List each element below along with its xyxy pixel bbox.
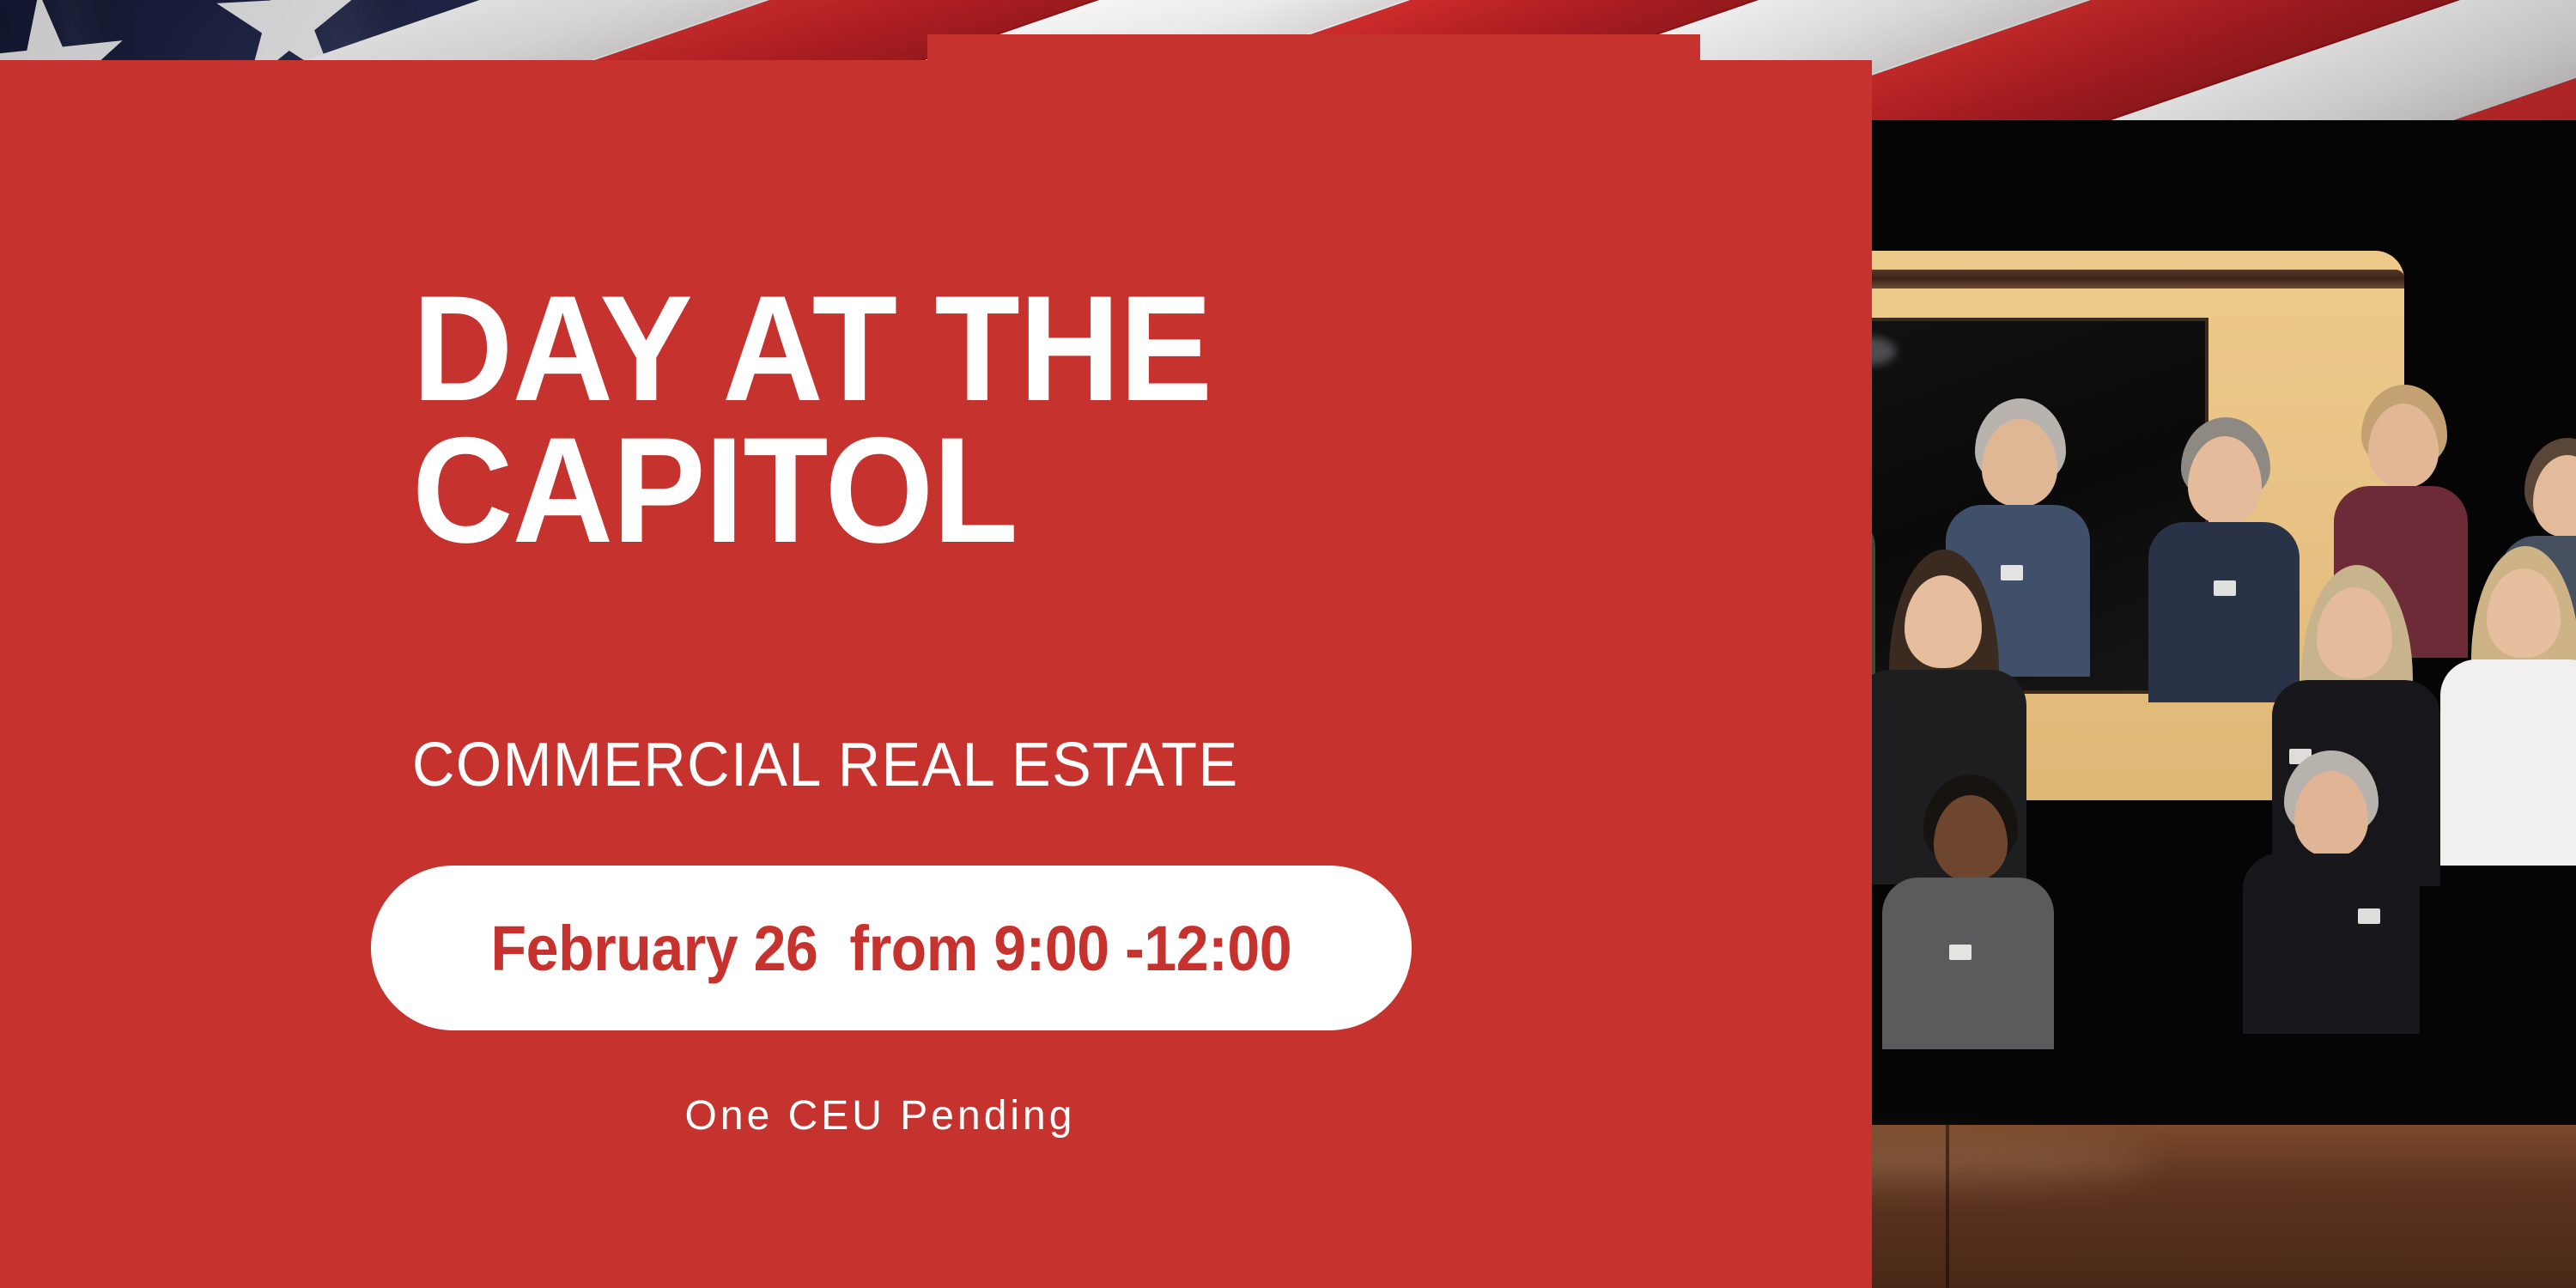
headline-line-2: CAPITOL xyxy=(412,421,1467,562)
subtitle: COMMERCIAL REAL ESTATE xyxy=(412,730,1554,800)
date-time-pill: February 26 from 9:00 -12:00 xyxy=(371,866,1412,1030)
page-title: DAY AT THE CAPITOL xyxy=(412,279,1467,562)
event-promo-banner: DAY AT THE CAPITOL COMMERCIAL REAL ESTAT… xyxy=(0,0,2576,1288)
date-time-text: February 26 from 9:00 -12:00 xyxy=(491,912,1292,985)
banner-content: DAY AT THE CAPITOL COMMERCIAL REAL ESTAT… xyxy=(0,0,2576,1288)
ceu-footnote: One CEU Pending xyxy=(0,1092,1760,1139)
